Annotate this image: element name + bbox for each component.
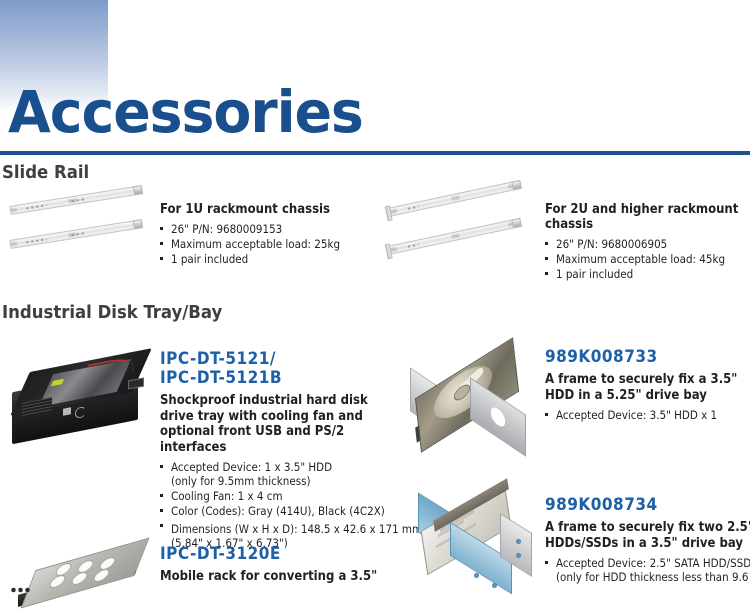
- mounting-screws: [10, 586, 30, 594]
- product-image-slide-rail-1u: [6, 198, 146, 278]
- spec-list: Accepted Device: 2.5" SATA HDD/SSD x 2 (…: [545, 556, 750, 584]
- spec-item: Cooling Fan: 1 x 4 cm: [160, 489, 385, 503]
- product-description: A frame to securely fix two 2.5" HDDs/SS…: [545, 520, 750, 551]
- spec-text: Accepted Device: 1 x 3.5" HDD: [171, 460, 332, 474]
- product-name-line-1: 989K008734: [545, 496, 750, 515]
- bullet-icon: [545, 413, 548, 416]
- spec-item: 1 pair included: [160, 252, 360, 266]
- bullet-icon: [160, 227, 163, 230]
- product-block-slide-rail-2u: For 2U and higher rackmount chassis 26" …: [545, 202, 750, 282]
- spec-text: Color (Codes): Gray (414U), Black (4C2X): [171, 504, 385, 518]
- spec-item: 1 pair included: [545, 267, 750, 281]
- bullet-icon: [160, 465, 163, 468]
- spec-item: Maximum acceptable load: 25kg: [160, 237, 360, 251]
- product-block-989k008734: 989K008734 A frame to securely fix two 2…: [545, 496, 750, 585]
- product-description: Mobile rack for converting a 3.5": [160, 569, 390, 585]
- product-name-line-1: IPC-DT-3120E: [160, 545, 390, 564]
- spec-text: Accepted Device: 2.5" SATA HDD/SSD x 2: [556, 556, 750, 570]
- mount-screw: [516, 553, 521, 558]
- bullet-icon: [545, 257, 548, 260]
- section-heading-slide-rail: Slide Rail: [2, 163, 89, 183]
- spec-text: 1 pair included: [556, 267, 633, 281]
- product-description: A frame to securely fix a 3.5" HDD in a …: [545, 372, 750, 403]
- product-block-ipc-dt-3120e: IPC-DT-3120E Mobile rack for converting …: [160, 545, 390, 585]
- bullet-icon: [160, 509, 163, 512]
- mount-screw: [492, 583, 497, 588]
- spec-list: 26" P/N: 9680009153 Maximum acceptable l…: [160, 222, 360, 266]
- product-image-ipc-dt-5121: [8, 352, 150, 448]
- spec-text: 26" P/N: 9680009153: [171, 222, 282, 236]
- spec-item: Color (Codes): Gray (414U), Black (4C2X): [160, 504, 385, 518]
- product-image-989k008733: [410, 352, 538, 462]
- product-image-slide-rail-2u: [378, 198, 538, 284]
- product-block-ipc-dt-5121: IPC-DT-5121/ IPC-DT-5121B Shockproof ind…: [160, 350, 385, 551]
- spec-text: Maximum acceptable load: 25kg: [171, 237, 340, 251]
- spec-list: Accepted Device: 1 x 3.5" HDD (only for …: [160, 460, 385, 550]
- spec-text: Dimensions (W x H x D): 148.5 x 42.6 x 1…: [171, 522, 422, 536]
- bullet-icon: [160, 257, 163, 260]
- bullet-icon: [545, 561, 548, 564]
- bullet-icon: [160, 242, 163, 245]
- product-name-line-1: 989K008733: [545, 348, 750, 367]
- mount-screw: [474, 573, 479, 578]
- section-heading-industrial-disk-tray-bay: Industrial Disk Tray/Bay: [2, 303, 222, 323]
- spec-text: 26" P/N: 9680006905: [556, 237, 667, 251]
- bullet-icon: [160, 494, 163, 497]
- cable-connector: [128, 377, 144, 389]
- product-image-ipc-dt-3120e: [10, 556, 150, 602]
- spec-item: 26" P/N: 9680006905: [545, 237, 750, 251]
- spec-list: 26" P/N: 9680006905 Maximum acceptable l…: [545, 237, 750, 281]
- product-subhead: For 1U rackmount chassis: [160, 202, 360, 217]
- spec-item: Accepted Device: 1 x 3.5" HDD (only for …: [160, 460, 385, 488]
- spec-list: Accepted Device: 3.5" HDD x 1: [545, 408, 750, 422]
- title-divider-rule: [0, 151, 750, 155]
- page-title: Accessories: [8, 83, 363, 141]
- product-block-slide-rail-1u: For 1U rackmount chassis 26" P/N: 968000…: [160, 202, 360, 267]
- spec-text-continued: (only for HDD thickness less than 9.6 mm…: [556, 570, 750, 584]
- product-block-989k008733: 989K008733 A frame to securely fix a 3.5…: [545, 348, 750, 423]
- frame-slot: [491, 404, 505, 429]
- spec-text: Accepted Device: 3.5" HDD x 1: [556, 408, 717, 422]
- spec-item: Accepted Device: 2.5" SATA HDD/SSD x 2 (…: [545, 556, 750, 584]
- spec-text: Maximum acceptable load: 45kg: [556, 252, 725, 266]
- bullet-icon: [545, 242, 548, 245]
- spec-item: Maximum acceptable load: 45kg: [545, 252, 750, 266]
- product-name-line-2: IPC-DT-5121B: [160, 369, 385, 388]
- product-subhead: For 2U and higher rackmount chassis: [545, 202, 750, 232]
- product-image-989k008734: [418, 497, 540, 591]
- spec-item: 26" P/N: 9680009153: [160, 222, 360, 236]
- spec-item: Accepted Device: 3.5" HDD x 1: [545, 408, 750, 422]
- spec-text-continued: (only for 9.5mm thickness): [171, 474, 385, 488]
- product-description: Shockproof industrial hard disk drive tr…: [160, 393, 385, 455]
- bullet-icon: [160, 524, 163, 527]
- spec-text: 1 pair included: [171, 252, 248, 266]
- spec-text: Cooling Fan: 1 x 4 cm: [171, 489, 283, 503]
- bullet-icon: [545, 272, 548, 275]
- mount-screw: [516, 539, 521, 544]
- product-name-line-1: IPC-DT-5121/: [160, 350, 385, 369]
